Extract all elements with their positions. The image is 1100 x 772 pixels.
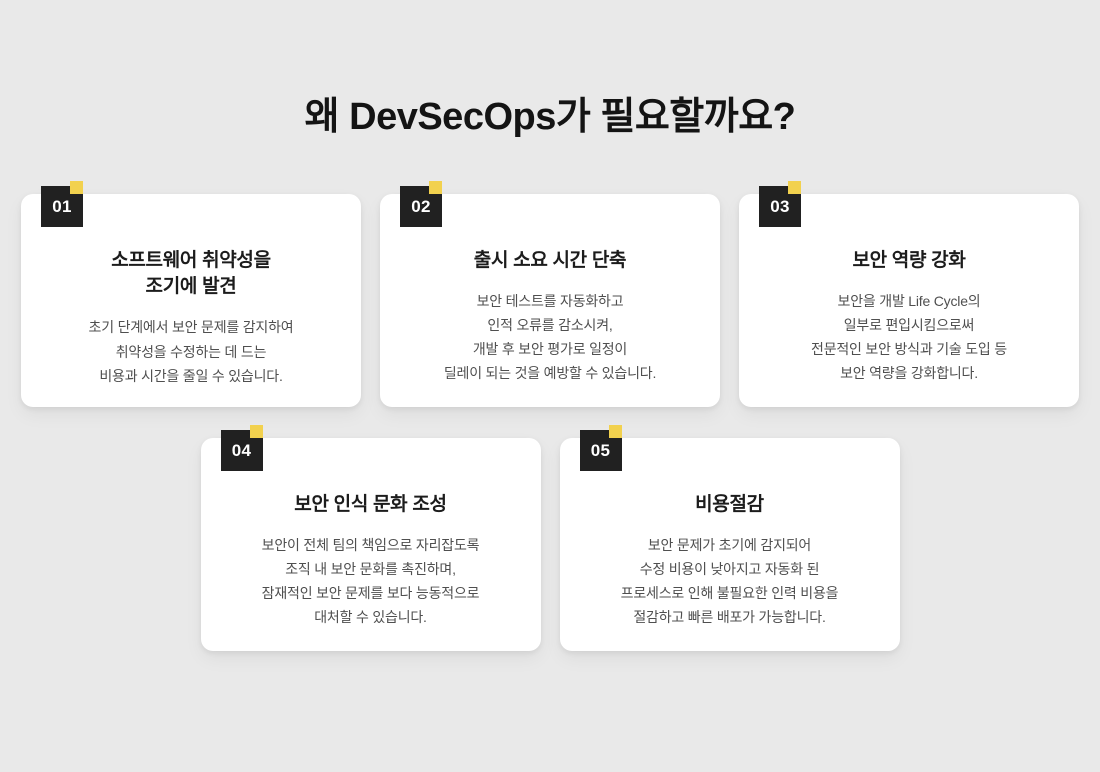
accent-square-icon (70, 181, 83, 194)
page-title: 왜 DevSecOps가 필요할까요? (0, 94, 1100, 142)
card-number-label: 02 (411, 198, 431, 215)
card-title: 비용절감 (580, 492, 880, 518)
card-number-badge: 02 (400, 186, 442, 227)
card-number-label: 05 (591, 442, 611, 459)
card-number-badge: 05 (580, 430, 622, 471)
benefit-card-04[interactable]: 04 보안 인식 문화 조성 보안이 전체 팀의 책임으로 자리잡도록 조직 내… (201, 438, 541, 651)
card-number-badge: 01 (41, 186, 83, 227)
benefit-card-03[interactable]: 03 보안 역량 강화 보안을 개발 Life Cycle의 일부로 편입시킴으… (739, 194, 1079, 407)
card-number-badge: 03 (759, 186, 801, 227)
accent-square-icon (788, 181, 801, 194)
card-title: 소프트웨어 취약성을 조기에 발견 (41, 248, 341, 300)
card-body: 보안 문제가 초기에 감지되어 수정 비용이 낮아지고 자동화 된 프로세스로 … (580, 533, 880, 629)
benefit-card-05[interactable]: 05 비용절감 보안 문제가 초기에 감지되어 수정 비용이 낮아지고 자동화 … (560, 438, 900, 651)
card-number-label: 03 (770, 198, 790, 215)
card-row-bottom: 04 보안 인식 문화 조성 보안이 전체 팀의 책임으로 자리잡도록 조직 내… (200, 438, 900, 651)
card-body: 보안 테스트를 자동화하고 인적 오류를 감소시켜, 개발 후 보안 평가로 일… (400, 289, 700, 385)
benefit-card-02[interactable]: 02 출시 소요 시간 단축 보안 테스트를 자동화하고 인적 오류를 감소시켜… (380, 194, 720, 407)
slide-root: 왜 DevSecOps가 필요할까요? 01 소프트웨어 취약성을 조기에 발견… (0, 0, 1100, 772)
card-number-badge: 04 (221, 430, 263, 471)
card-title: 출시 소요 시간 단축 (400, 248, 700, 274)
accent-square-icon (609, 425, 622, 438)
card-number-label: 01 (52, 198, 72, 215)
accent-square-icon (429, 181, 442, 194)
card-row-top: 01 소프트웨어 취약성을 조기에 발견 초기 단계에서 보안 문제를 감지하여… (21, 194, 1079, 407)
card-body: 보안을 개발 Life Cycle의 일부로 편입시킴으로써 전문적인 보안 방… (759, 289, 1059, 385)
benefit-card-01[interactable]: 01 소프트웨어 취약성을 조기에 발견 초기 단계에서 보안 문제를 감지하여… (21, 194, 361, 407)
accent-square-icon (250, 425, 263, 438)
card-number-label: 04 (232, 442, 252, 459)
card-body: 보안이 전체 팀의 책임으로 자리잡도록 조직 내 보안 문화를 촉진하며, 잠… (221, 533, 521, 629)
card-title: 보안 역량 강화 (759, 248, 1059, 274)
card-body: 초기 단계에서 보안 문제를 감지하여 취약성을 수정하는 데 드는 비용과 시… (41, 315, 341, 387)
card-title: 보안 인식 문화 조성 (221, 492, 521, 518)
